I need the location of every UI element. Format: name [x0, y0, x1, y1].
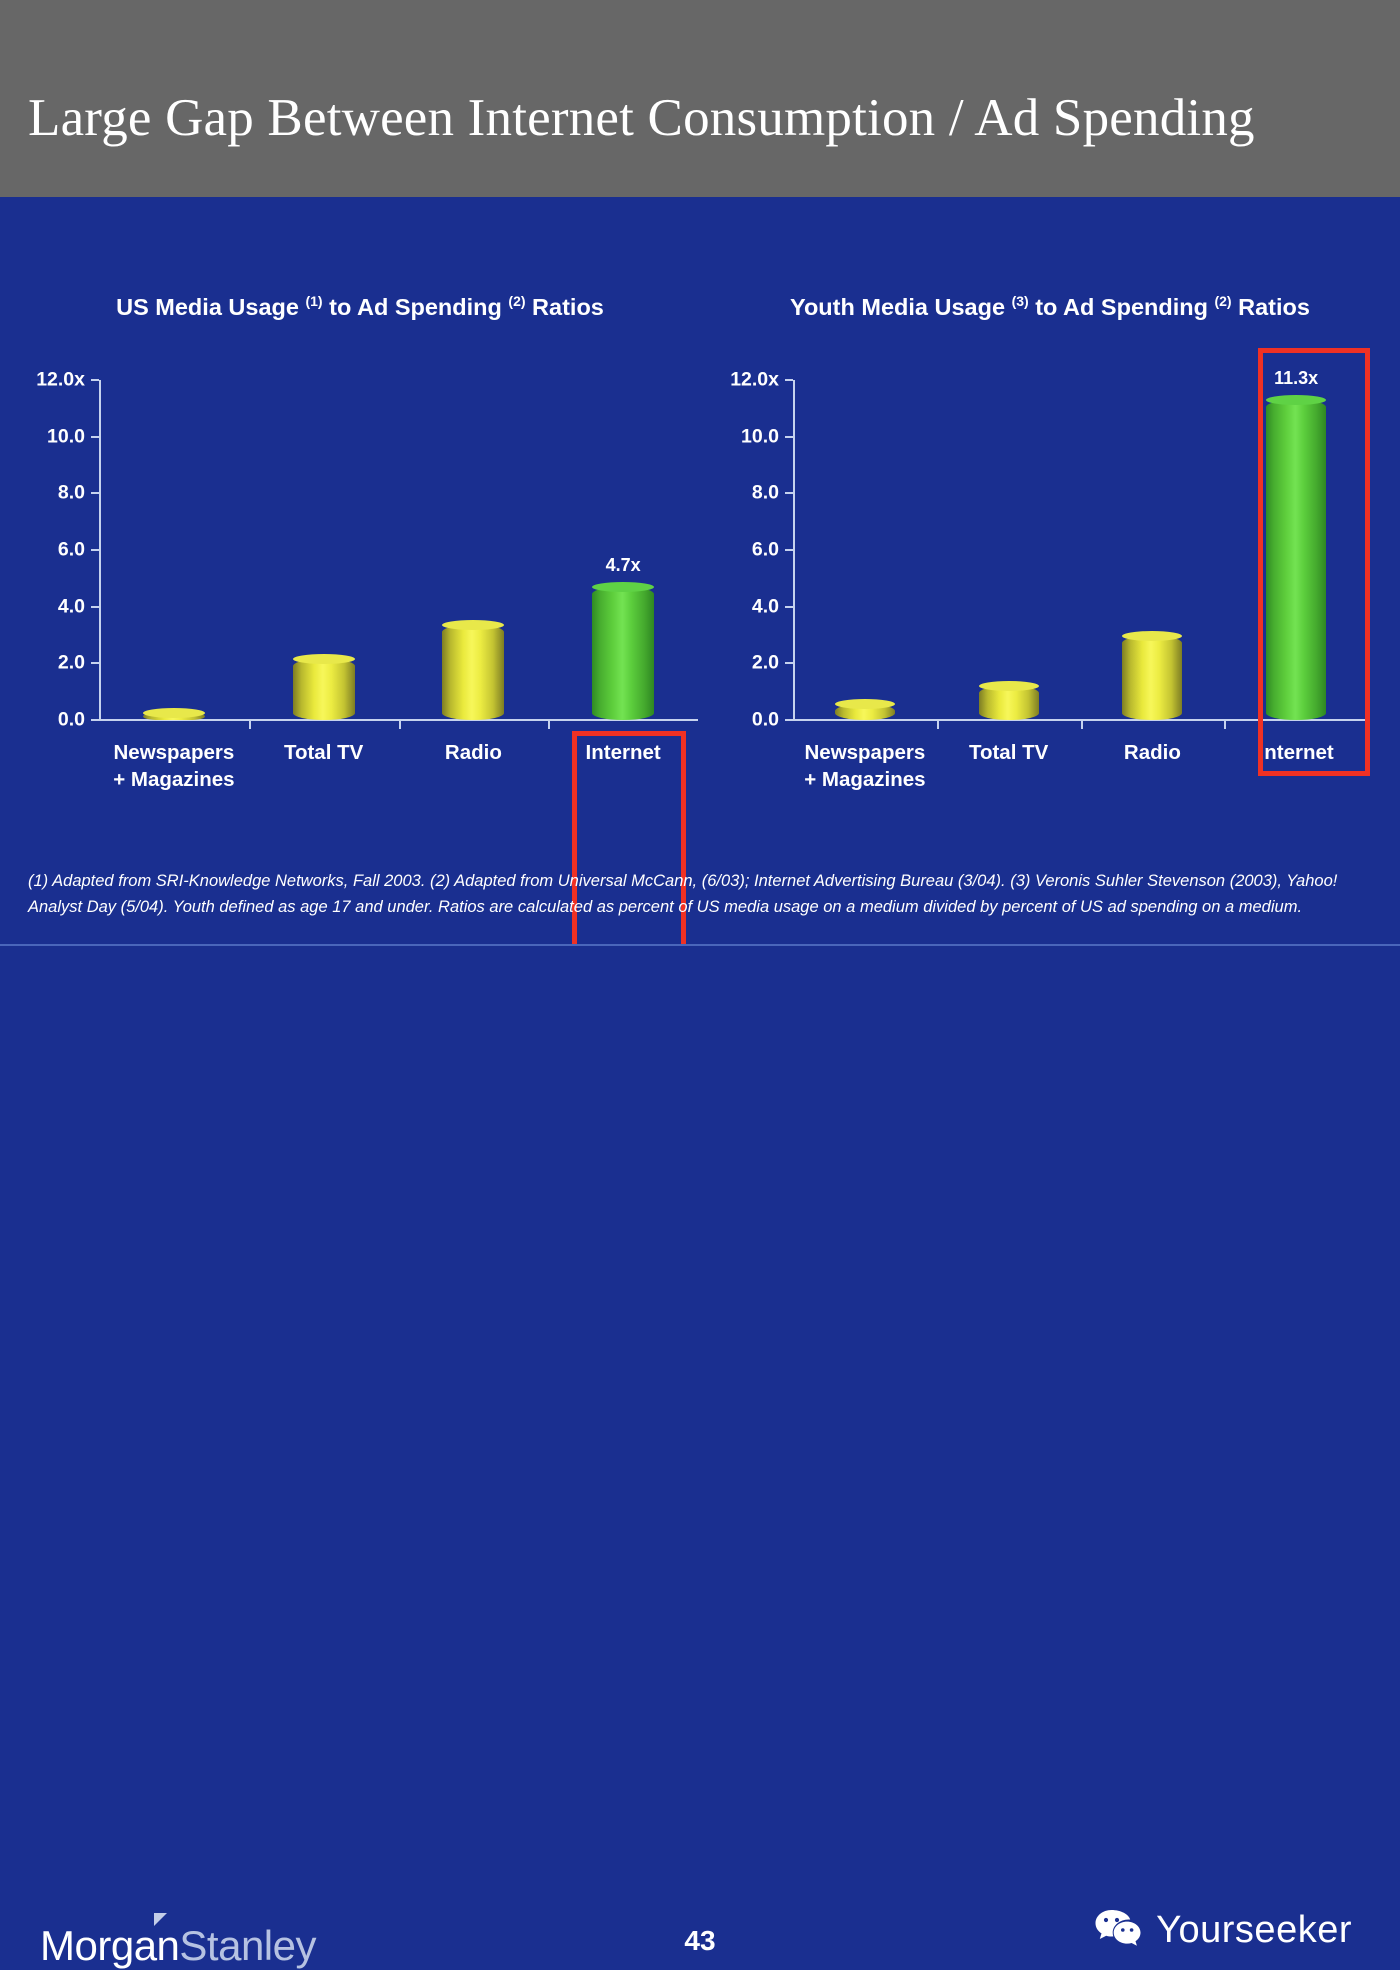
y-axis-line [793, 380, 795, 720]
y-axis-tick-label: 0.0 [752, 709, 779, 732]
chart-title-segment-2: to Ad Spending [323, 294, 509, 320]
footnote-marker-2: (2) [508, 293, 525, 309]
y-axis-tick-label: 8.0 [58, 482, 85, 505]
y-axis-tick [91, 492, 99, 494]
category-label-line: + Magazines [113, 767, 234, 794]
chart-us-media-usage: US Media Usage (1) to Ad Spending (2) Ra… [0, 197, 720, 945]
y-axis-tick-label: 10.0 [47, 425, 85, 448]
chart-title-youth-media-usage: Youth Media Usage (3) to Ad Spending (2)… [700, 290, 1400, 324]
x-axis-category-label: Total TV [284, 740, 363, 767]
x-axis-category-label: Radio [1124, 740, 1181, 767]
y-axis-tick [785, 379, 793, 381]
y-axis-tick [91, 549, 99, 551]
x-axis-tick [548, 720, 550, 729]
y-axis-tick-label: 12.0x [730, 369, 779, 392]
x-axis-category-label: Newspapers+ Magazines [804, 740, 925, 793]
brand-watermark: Yourseeker [1094, 1908, 1352, 1953]
y-axis-tick [785, 549, 793, 551]
y-axis-tick [785, 606, 793, 608]
y-axis-tick-label: 8.0 [752, 482, 779, 505]
y-axis-tick [785, 662, 793, 664]
category-label-line: Radio [1124, 740, 1181, 767]
category-label-line: Total TV [969, 740, 1048, 767]
bar-cap [592, 582, 654, 592]
highlight-box-internet-right [1258, 348, 1370, 776]
category-label-line: Newspapers [113, 740, 234, 767]
chart-youth-media-usage: Youth Media Usage (3) to Ad Spending (2)… [700, 197, 1400, 945]
brand-label: Yourseeker [1156, 1909, 1352, 1952]
category-label-line: + Magazines [804, 767, 925, 794]
y-axis-tick [785, 719, 793, 721]
bar-newspapers-magazines [143, 713, 205, 720]
y-axis-tick [91, 606, 99, 608]
chart-title-segment-3: Ratios [1232, 294, 1310, 320]
y-axis-tick [91, 379, 99, 381]
slide-body: US Media Usage (1) to Ad Spending (2) Ra… [0, 197, 1400, 945]
category-label-line: Total TV [284, 740, 363, 767]
footnotes: (1) Adapted from SRI-Knowledge Networks,… [28, 869, 1373, 920]
x-axis-category-label: Newspapers+ Magazines [113, 740, 234, 793]
y-axis-tick-label: 6.0 [752, 539, 779, 562]
category-label-line: Radio [445, 740, 502, 767]
footnote-marker-1: (1) [305, 293, 322, 309]
page-title: Large Gap Between Internet Consumption /… [28, 92, 1255, 145]
y-axis-tick-label: 4.0 [58, 595, 85, 618]
bar-cap [979, 681, 1039, 691]
category-label-line: Newspapers [804, 740, 925, 767]
bar-radio [1122, 636, 1182, 720]
y-axis-tick-label: 2.0 [752, 652, 779, 675]
x-axis-tick [1224, 720, 1226, 729]
bar-cap [835, 699, 895, 709]
y-axis-tick [91, 719, 99, 721]
slide-header: Large Gap Between Internet Consumption /… [0, 0, 1400, 197]
bar-cap [143, 708, 205, 718]
bar-internet [592, 587, 654, 720]
chart-title-segment-1: US Media Usage [116, 294, 305, 320]
bar-cap [1122, 631, 1182, 641]
slide-footer: MorganStanley 43 Yourseeker [0, 946, 1400, 1042]
y-axis-tick-label: 2.0 [58, 652, 85, 675]
bar-total-tv [979, 686, 1039, 720]
x-axis-tick [937, 720, 939, 729]
y-axis-tick-label: 4.0 [752, 595, 779, 618]
y-axis-tick [785, 492, 793, 494]
footnote-marker-3: (3) [1012, 293, 1029, 309]
y-axis-tick-label: 6.0 [58, 539, 85, 562]
chart-title-us-media-usage: US Media Usage (1) to Ad Spending (2) Ra… [0, 290, 720, 324]
bar-cap [442, 620, 504, 630]
bar-total-tv [293, 659, 355, 720]
y-axis-tick [91, 436, 99, 438]
x-axis-tick [249, 720, 251, 729]
bar-cap [293, 654, 355, 664]
x-axis-category-label: Radio [445, 740, 502, 767]
x-axis-tick [1081, 720, 1083, 729]
x-axis-category-label: Total TV [969, 740, 1048, 767]
highlight-box-internet-left [572, 731, 686, 973]
bar-newspapers-magazines [835, 704, 895, 720]
y-axis-tick-label: 10.0 [741, 425, 779, 448]
y-axis-tick [785, 436, 793, 438]
y-axis-tick-label: 12.0x [36, 369, 85, 392]
plot-area-us-media-usage: 0.02.04.06.08.010.012.0xNewspapers+ Maga… [99, 380, 698, 720]
bar-value-label: 4.7x [606, 555, 641, 576]
x-axis-tick [399, 720, 401, 729]
y-axis-line [99, 380, 101, 720]
y-axis-tick [91, 662, 99, 664]
chart-title-segment-3: Ratios [526, 294, 604, 320]
footnote-marker-2: (2) [1214, 293, 1231, 309]
bar-radio [442, 625, 504, 720]
wechat-icon [1094, 1908, 1142, 1953]
chart-title-segment-1: Youth Media Usage [790, 294, 1012, 320]
y-axis-tick-label: 0.0 [58, 709, 85, 732]
chart-title-segment-2: to Ad Spending [1029, 294, 1215, 320]
